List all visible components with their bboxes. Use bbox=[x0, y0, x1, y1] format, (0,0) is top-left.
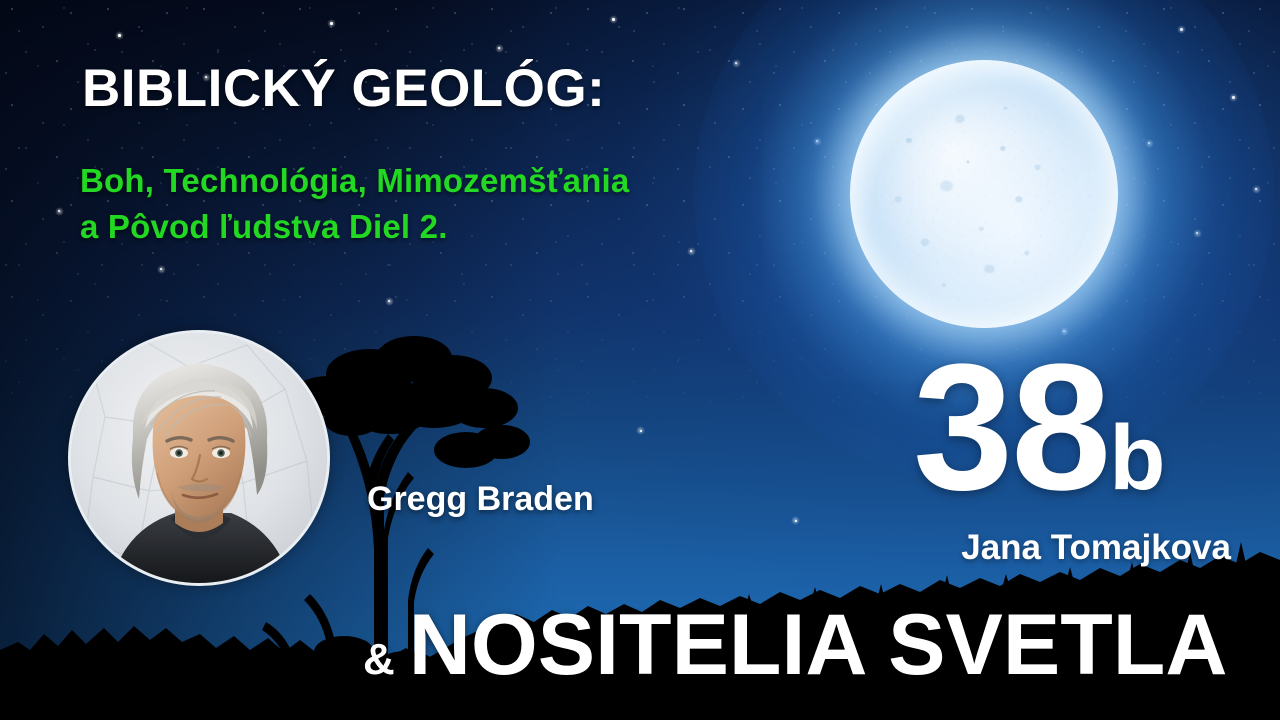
moon-rim-highlight bbox=[850, 60, 1118, 328]
full-moon-icon bbox=[850, 60, 1118, 328]
subtitle: Boh, Technológia, Mimozemšťania a Pôvod … bbox=[80, 158, 629, 250]
bright-star bbox=[498, 47, 500, 49]
bright-star bbox=[795, 520, 797, 522]
bright-star bbox=[118, 34, 121, 37]
subtitle-line-2: a Pôvod ľudstva Diel 2. bbox=[80, 204, 629, 250]
bright-star bbox=[612, 18, 615, 21]
portrait-photo bbox=[71, 333, 327, 583]
episode-number-label: 38b bbox=[913, 338, 1165, 518]
bright-star bbox=[330, 22, 333, 25]
host-name-label: Jana Tomajkova bbox=[913, 528, 1231, 568]
video-thumbnail-slide: BIBLICKÝ GEOLÓG: Boh, Technológia, Mimoz… bbox=[0, 0, 1280, 720]
page-title: BIBLICKÝ GEOLÓG: bbox=[82, 58, 605, 119]
bright-star bbox=[640, 430, 642, 432]
episode-number: 38 bbox=[913, 327, 1109, 528]
episode-suffix: b bbox=[1109, 407, 1165, 509]
guest-portrait-avatar bbox=[68, 330, 330, 586]
bright-star bbox=[58, 210, 60, 212]
channel-name: NOSITELIA SVETLA bbox=[409, 597, 1228, 693]
guest-name-label: Gregg Braden bbox=[367, 480, 594, 519]
channel-name-footer: &NOSITELIA SVETLA bbox=[363, 596, 1227, 695]
ampersand-symbol: & bbox=[363, 635, 395, 684]
subtitle-line-1: Boh, Technológia, Mimozemšťania bbox=[80, 158, 629, 204]
bright-star bbox=[160, 268, 162, 270]
bright-star bbox=[690, 250, 692, 252]
